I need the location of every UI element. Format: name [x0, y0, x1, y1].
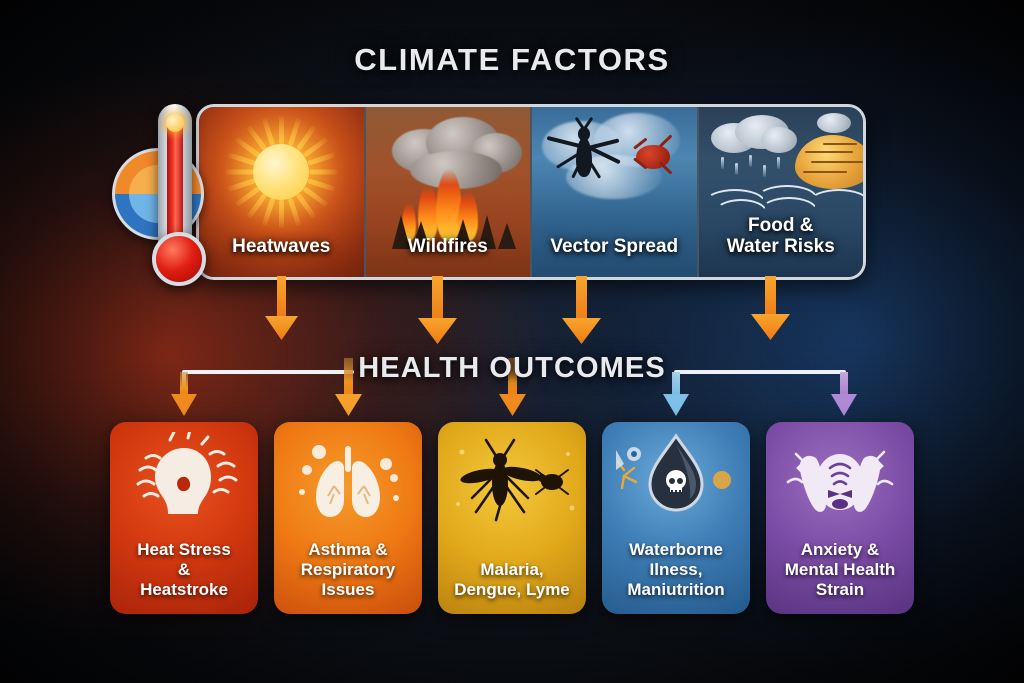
water-drop-skull-icon	[602, 432, 750, 524]
thermometer-icon	[112, 104, 232, 300]
outcome-card-label: Anxiety & Mental Health Strain	[770, 540, 910, 600]
infographic-canvas: CLIMATE FACTORS Heatwaves	[0, 0, 1024, 683]
heat-head-icon	[110, 432, 258, 524]
outcome-card-heat-stress[interactable]: Heat Stress & Heatstroke	[110, 422, 258, 614]
outcome-card-label: Waterborne Ilness, Maniutrition	[606, 540, 746, 600]
outcome-card-anxiety[interactable]: Anxiety & Mental Health Strain	[766, 422, 914, 614]
arrow-down-wildfires	[418, 276, 457, 344]
health-outcome-cards: Heat Stress & Heatstroke	[0, 422, 1024, 617]
sun-icon	[166, 114, 184, 132]
stressed-head-icon	[766, 432, 914, 524]
mosquito-icon	[438, 432, 586, 524]
thermometer-bulb	[152, 232, 206, 286]
lungs-icon	[274, 432, 422, 524]
outcome-card-label: Malaria, Dengue, Lyme	[442, 560, 582, 600]
outcome-card-label: Heat Stress & Heatstroke	[114, 540, 254, 600]
outcome-card-asthma[interactable]: Asthma & Respiratory Issues	[274, 422, 422, 614]
arrow-down-food-water	[751, 276, 790, 340]
page-title-health-outcomes: HEALTH OUTCOMES	[0, 352, 1024, 385]
outcome-card-waterborne[interactable]: Waterborne Ilness, Maniutrition	[602, 422, 750, 614]
arrow-down-vector-spread	[562, 276, 601, 344]
outcome-card-label: Asthma & Respiratory Issues	[278, 540, 418, 600]
arrow-down-heatwaves	[265, 276, 298, 340]
outcome-card-malaria[interactable]: Malaria, Dengue, Lyme	[438, 422, 586, 614]
